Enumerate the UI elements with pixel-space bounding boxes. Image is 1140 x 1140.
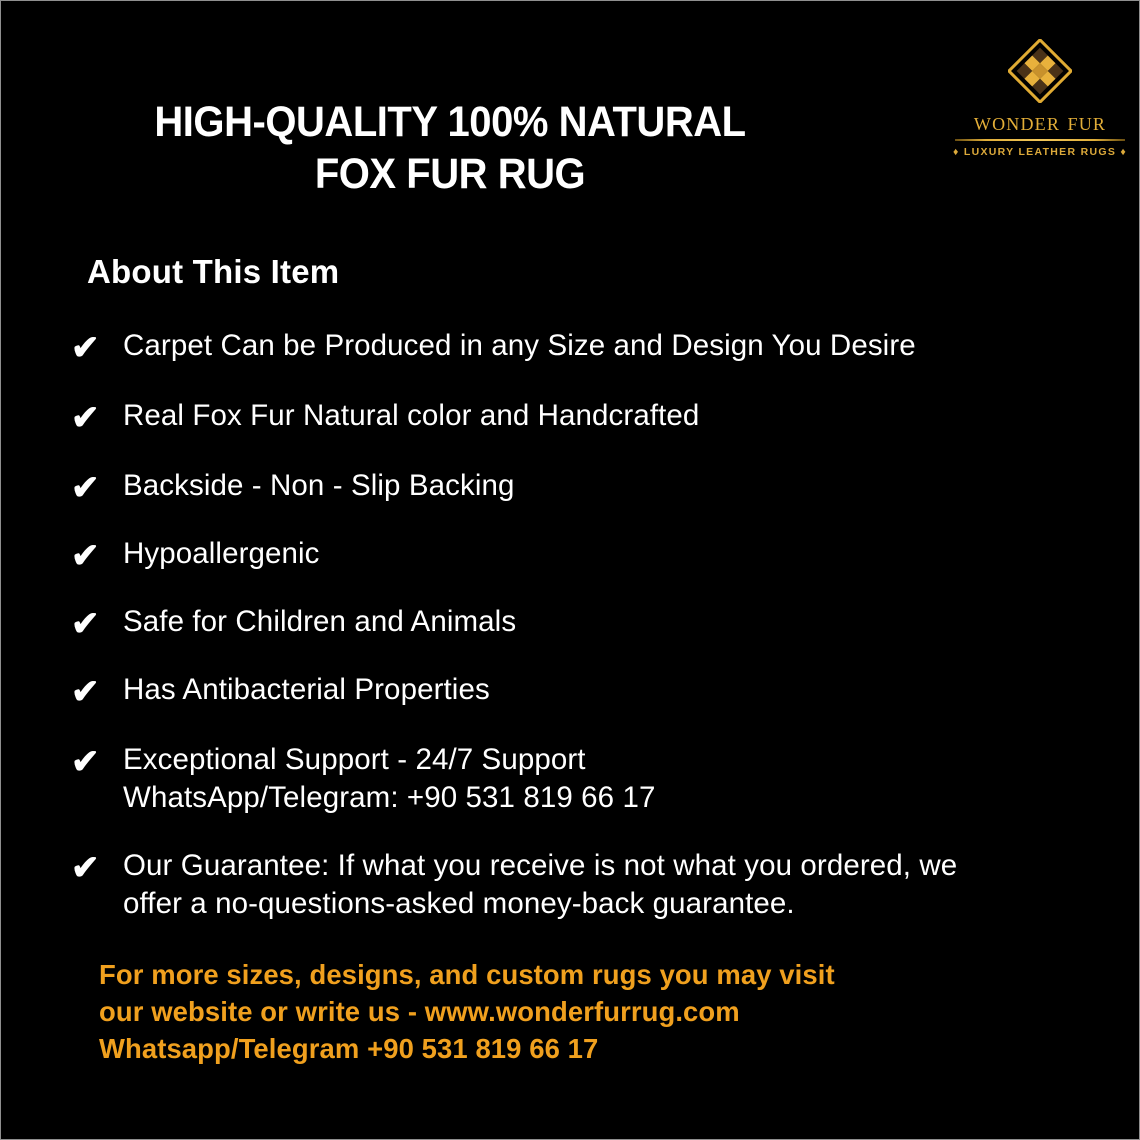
list-item-label: Safe for Children and Animals xyxy=(123,603,516,641)
title-line-2: FOX FUR RUG xyxy=(32,148,867,200)
check-icon: ✔ xyxy=(71,467,123,507)
check-icon: ✔ xyxy=(71,847,123,887)
check-icon: ✔ xyxy=(71,327,123,367)
list-item: ✔ Backside - Non - Slip Backing xyxy=(71,467,1099,507)
logo-divider xyxy=(955,139,1125,141)
list-item: ✔ Carpet Can be Produced in any Size and… xyxy=(71,327,1099,367)
footer-line-2: our website or write us - www.wonderfurr… xyxy=(99,993,1079,1030)
brand-tagline: ♦ LUXURY LEATHER RUGS ♦ xyxy=(951,146,1129,158)
check-icon: ✔ xyxy=(71,397,123,437)
feature-list: ✔ Carpet Can be Produced in any Size and… xyxy=(71,327,1099,953)
list-item-label: Real Fox Fur Natural color and Handcraft… xyxy=(123,397,699,435)
about-this-item-heading: About This Item xyxy=(87,253,339,291)
list-item: ✔ Real Fox Fur Natural color and Handcra… xyxy=(71,397,1099,437)
brand-logo: Wonder Fur ♦ LUXURY LEATHER RUGS ♦ xyxy=(951,39,1129,158)
list-item-label: Backside - Non - Slip Backing xyxy=(123,467,515,505)
contact-footer: For more sizes, designs, and custom rugs… xyxy=(99,956,1099,1067)
list-item: ✔ Hypoallergenic xyxy=(71,535,1099,575)
list-item-label: Has Antibacterial Properties xyxy=(123,671,490,709)
list-item: ✔ Safe for Children and Animals xyxy=(71,603,1099,643)
check-icon: ✔ xyxy=(71,741,123,781)
check-icon: ✔ xyxy=(71,535,123,575)
list-item-label: Hypoallergenic xyxy=(123,535,320,573)
list-item-label: Carpet Can be Produced in any Size and D… xyxy=(123,327,916,365)
list-item-label: Our Guarantee: If what you receive is no… xyxy=(123,847,957,923)
header: HIGH-QUALITY 100% NATURAL FOX FUR RUG xyxy=(1,1,1139,216)
list-item: ✔ Our Guarantee: If what you receive is … xyxy=(71,847,1099,923)
brand-name: Wonder Fur xyxy=(951,109,1129,137)
footer-line-1: For more sizes, designs, and custom rugs… xyxy=(99,956,1079,993)
list-item: ✔ Exceptional Support - 24/7 Support Wha… xyxy=(71,741,1099,817)
diamond-checkerboard-logo-icon xyxy=(1008,39,1072,103)
list-item: ✔ Has Antibacterial Properties xyxy=(71,671,1099,711)
page-title: HIGH-QUALITY 100% NATURAL FOX FUR RUG xyxy=(1,96,899,200)
title-line-1: HIGH-QUALITY 100% NATURAL xyxy=(32,96,867,148)
check-icon: ✔ xyxy=(71,603,123,643)
product-info-card: HIGH-QUALITY 100% NATURAL FOX FUR RUG xyxy=(0,0,1140,1140)
list-item-label: Exceptional Support - 24/7 Support Whats… xyxy=(123,741,656,817)
check-icon: ✔ xyxy=(71,671,123,711)
footer-line-3: Whatsapp/Telegram +90 531 819 66 17 xyxy=(99,1030,1079,1067)
